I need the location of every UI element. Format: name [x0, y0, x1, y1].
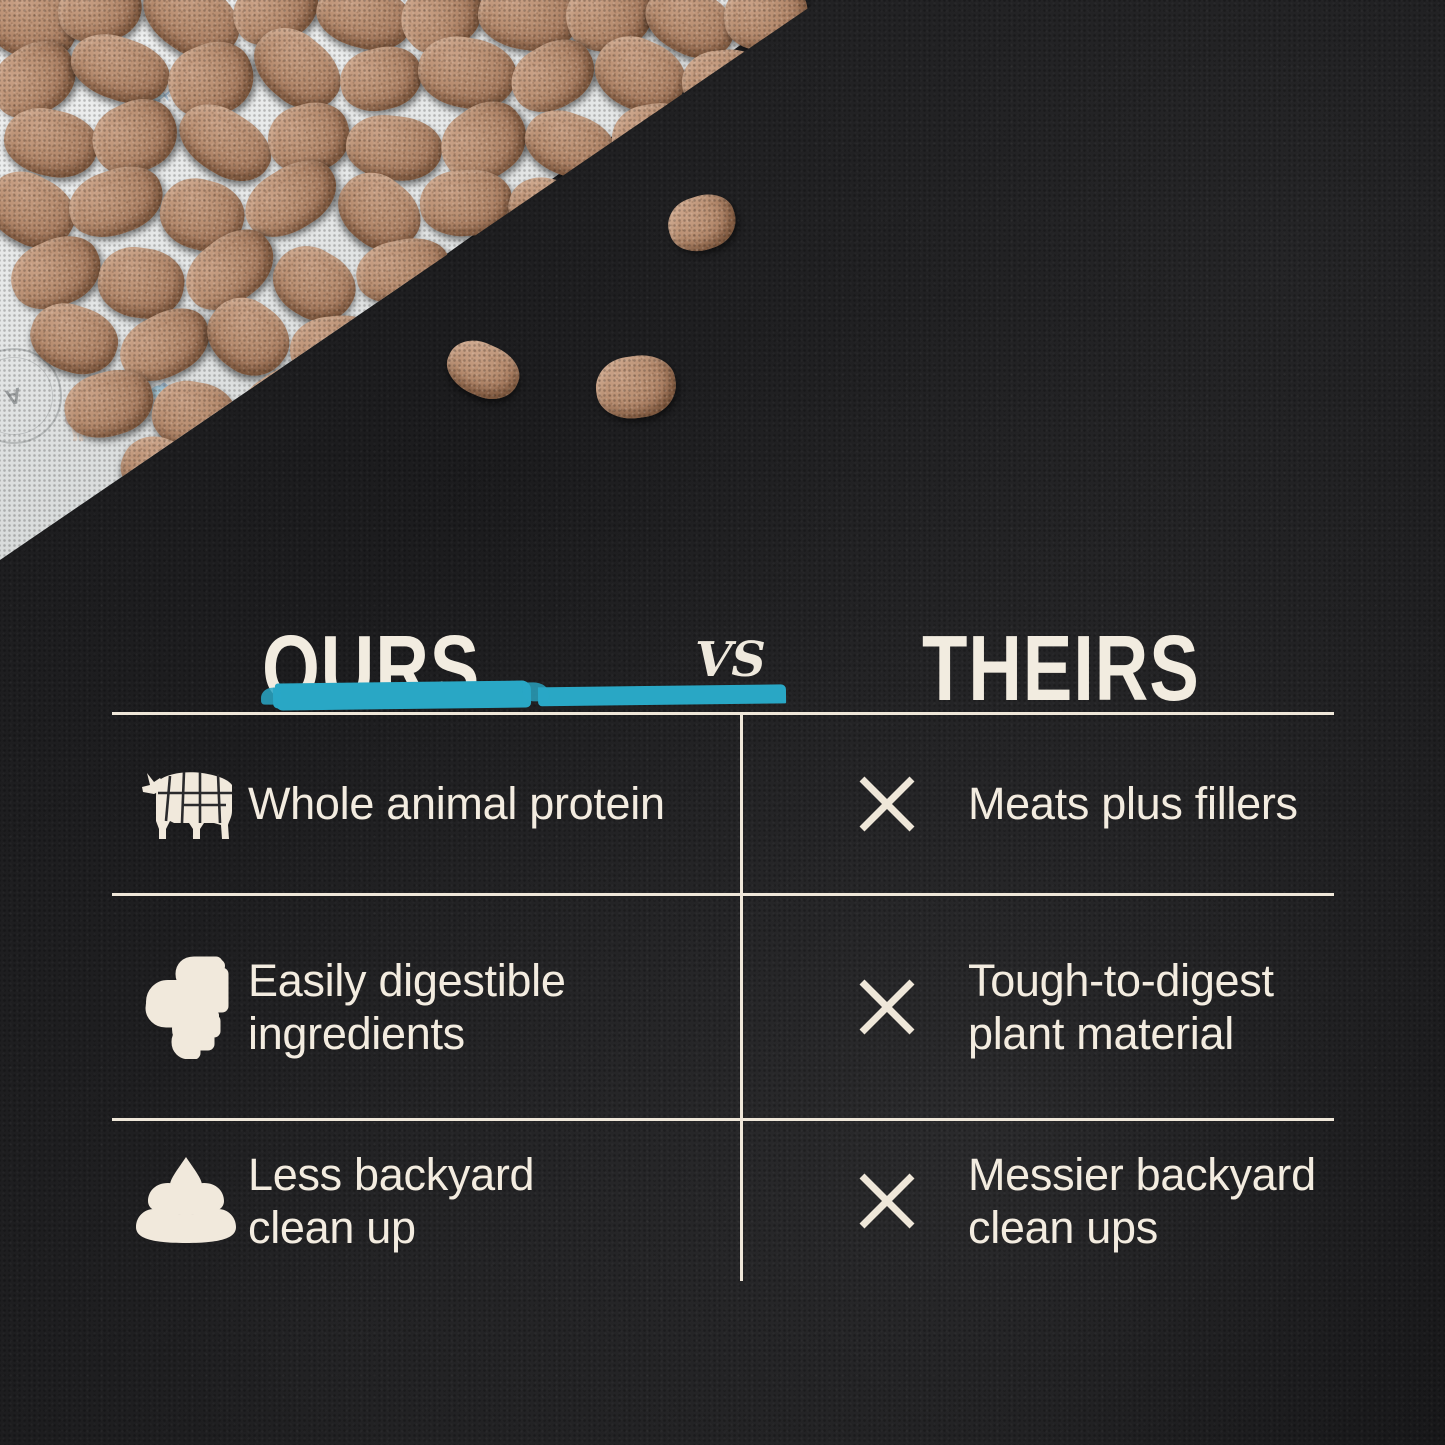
kibble-piece: [439, 331, 528, 409]
table-body: Whole animal protein Meats plus fillers: [112, 715, 1334, 1281]
kibble-piece: [661, 187, 742, 259]
row-text-theirs-3: Messier backyard clean ups: [968, 1148, 1316, 1254]
kibble-piece: [592, 351, 680, 424]
product-comparison-graphic: 🐤 🦅 🐤 🐟 🐕 🦅 🐖 🐤 🐄 🐟 🐕 🐕 A: [0, 0, 1445, 1445]
cell-ours-3: Less backyard clean up: [112, 1121, 740, 1281]
dog-silhouette-icon: 🐕: [421, 407, 455, 435]
stamp-mark: A: [4, 382, 25, 411]
cell-ours-2: Easily digestible ingredients: [112, 896, 740, 1118]
table-row: Easily digestible ingredients Tough-to-d…: [112, 896, 1334, 1118]
row-text-ours-3: Less backyard clean up: [248, 1148, 534, 1254]
x-mark-icon: [856, 773, 968, 835]
cell-theirs-2: Tough-to-digest plant material: [740, 896, 1334, 1118]
turkey-silhouette-icon: 🦅: [281, 388, 316, 417]
column-header-theirs: THEIRS: [922, 624, 1200, 712]
product-photo: 🐤 🦅 🐤 🐟 🐕 🦅 🐖 🐤 🐄 🐟 🐕 🐕 A: [0, 0, 820, 560]
row-text-ours-1: Whole animal protein: [248, 777, 665, 830]
intestine-icon: [124, 955, 248, 1059]
table-row: Whole animal protein Meats plus fillers: [112, 715, 1334, 893]
cell-ours-1: Whole animal protein: [112, 715, 740, 893]
pig-silhouette-icon: 🐖: [228, 449, 264, 480]
stool-icon: [124, 1153, 248, 1249]
row-text-theirs-1: Meats plus fillers: [968, 777, 1298, 830]
row-text-ours-2: Easily digestible ingredients: [248, 954, 566, 1060]
cow-butcher-chart-icon: [124, 759, 248, 849]
table-header: OURS VS THEIRS: [112, 565, 1334, 712]
cell-theirs-1: Meats plus fillers: [740, 715, 1334, 893]
vs-label: VS: [695, 632, 765, 688]
table-row: Less backyard clean up Messier backyard …: [112, 1121, 1334, 1281]
cell-theirs-3: Messier backyard clean ups: [740, 1121, 1334, 1281]
x-mark-icon: [856, 976, 968, 1038]
row-text-theirs-2: Tough-to-digest plant material: [968, 954, 1274, 1060]
accent-brush-underline: [275, 680, 531, 710]
x-mark-icon: [856, 1170, 968, 1232]
comparison-table: OURS VS THEIRS: [112, 565, 1334, 1281]
